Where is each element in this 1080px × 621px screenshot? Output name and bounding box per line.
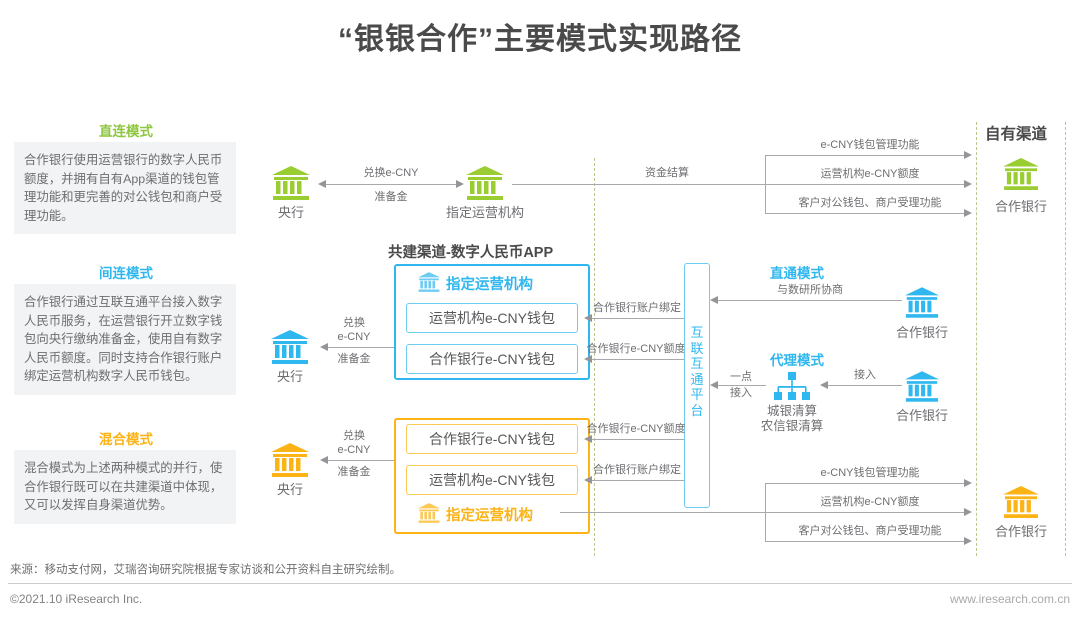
website-url: www.iresearch.com.cn <box>950 592 1070 606</box>
agent-label-access: 接入 <box>830 368 900 382</box>
fan-arrow-3-direct <box>964 209 972 217</box>
link-label-top-hybrid: 合作银行e-CNY额度 <box>584 422 688 436</box>
clearing-label-l2: 农信银清算 <box>742 415 842 434</box>
flow-arrow-exchange-hybrid <box>320 456 328 464</box>
partner-bank-label-hybrid: 合作银行 <box>981 521 1061 540</box>
channel-divider-right <box>1065 122 1066 556</box>
link-line-bottom-indirect <box>592 359 684 360</box>
partner-bank-icon-hybrid <box>1003 486 1039 518</box>
operator-bank-icon-hybrid <box>418 503 440 523</box>
agent-partner-bank-icon <box>905 371 939 402</box>
operator-bank-icon-indirect <box>418 272 440 292</box>
central-bank-label-direct: 央行 <box>261 202 321 221</box>
flow-label-exchange-l2-indirect: e-CNY <box>318 330 390 344</box>
flow-arrow-exchange-indirect <box>320 343 328 351</box>
fan-label-3-hybrid: 客户对公钱包、商户受理功能 <box>775 524 965 538</box>
mode-title-indirect: 间连模式 <box>6 262 246 282</box>
flow-label-reserve-indirect: 准备金 <box>318 352 390 366</box>
flow-label-reserve-hybrid: 准备金 <box>318 465 390 479</box>
flow-label-exchange-l2-hybrid: e-CNY <box>318 443 390 457</box>
link-line-bottom-hybrid <box>592 480 684 481</box>
operator-bank-icon-direct <box>466 166 504 200</box>
interconnect-platform-label: 互联互通平台 <box>689 325 705 418</box>
agent-arrow-access <box>820 381 828 389</box>
page-title: “银银合作”主要模式实现路径 <box>0 14 1080 58</box>
operator-label-indirect: 指定运营机构 <box>446 273 533 294</box>
fan-line-3-hybrid <box>765 541 965 542</box>
link-label-bottom-indirect: 合作银行e-CNY额度 <box>584 342 688 356</box>
mode-desc-indirect: 合作银行通过互联互通平台接入数字人民币服务，在运营银行开立数字钱包向央行缴纳准备… <box>14 284 236 395</box>
clearing-network-icon <box>772 372 812 400</box>
link-arrow-top-hybrid <box>584 435 592 443</box>
direct-partner-bank-label: 合作银行 <box>882 322 962 341</box>
footer-divider <box>8 583 1072 584</box>
central-bank-icon-hybrid <box>271 443 309 477</box>
link-label-bottom-hybrid: 合作银行账户绑定 <box>588 463 686 477</box>
central-bank-label-hybrid: 央行 <box>260 479 320 498</box>
flow-line-exchange-direct <box>326 184 456 185</box>
wallet-partner-indirect: 合作银行e-CNY钱包 <box>406 344 578 374</box>
infographic-canvas: “银银合作”主要模式实现路径 直连模式 合作银行使用运营银行的数字人民币额度，并… <box>0 0 1080 621</box>
agent-mode-tag: 代理模式 <box>770 349 824 369</box>
fan-label-1-hybrid: e-CNY钱包管理功能 <box>775 466 965 480</box>
direct-mode-arrow <box>710 296 718 304</box>
mode-title-hybrid: 混合模式 <box>6 428 246 448</box>
fan-arrow-2-direct <box>964 180 972 188</box>
wallet-partner-hybrid: 合作银行e-CNY钱包 <box>406 424 578 454</box>
link-arrow-bottom-indirect <box>584 355 592 363</box>
fan-label-2-direct: 运营机构e-CNY额度 <box>775 167 965 181</box>
wallet-operator-indirect: 运营机构e-CNY钱包 <box>406 303 578 333</box>
link-line-top-indirect <box>592 318 684 319</box>
direct-mode-label: 与数研所协商 <box>740 283 880 297</box>
link-arrow-top-indirect <box>584 314 592 322</box>
central-bank-label-indirect: 央行 <box>260 366 320 385</box>
direct-mode-line <box>718 300 902 301</box>
fan-label-2-hybrid: 运营机构e-CNY额度 <box>775 495 965 509</box>
agent-line-access <box>828 385 902 386</box>
flow-label-exchange-l1-hybrid: 兑换 <box>318 429 390 443</box>
wallet-operator-hybrid: 运营机构e-CNY钱包 <box>406 465 578 495</box>
mode-desc-direct: 合作银行使用运营银行的数字人民币额度，并拥有自有App渠道的钱包管理功能和更完善… <box>14 142 236 234</box>
fan-label-3-direct: 客户对公钱包、商户受理功能 <box>775 196 965 210</box>
fan-arrow-1-hybrid <box>964 479 972 487</box>
source-note: 来源：移动支付网，艾瑞咨询研究院根据专家访谈和公开资料自主研究绘制。 <box>10 561 401 577</box>
fan-arrow-3-hybrid <box>964 537 972 545</box>
partner-bank-icon-direct <box>1003 158 1039 190</box>
column-title-shared-channel: 共建渠道-数字人民币APP <box>388 241 553 262</box>
fan-line-1-hybrid <box>765 483 965 484</box>
fan-line-2-direct <box>765 184 965 185</box>
copyright-text: ©2021.10 iResearch Inc. <box>10 592 142 606</box>
mode-desc-hybrid: 混合模式为上述两种模式的并行，使合作银行既可以在共建渠道中体现，又可以发挥自身渠… <box>14 450 236 524</box>
fan-line-1-direct <box>765 155 965 156</box>
agent-partner-bank-label: 合作银行 <box>882 405 962 424</box>
flow-arrow-exchange-direct <box>318 180 326 188</box>
operator-label-direct: 指定运营机构 <box>428 202 542 221</box>
flow-label-settlement-direct: 资金结算 <box>645 166 689 180</box>
link-line-top-hybrid <box>592 439 684 440</box>
fan-label-1-direct: e-CNY钱包管理功能 <box>775 138 965 152</box>
central-bank-icon-direct <box>272 166 310 200</box>
direct-mode-tag: 直通模式 <box>770 262 824 282</box>
agent-label-single-l1: 一点 <box>716 370 766 384</box>
flow-arrow-reserve-direct <box>456 180 464 188</box>
flow-label-exchange-direct: 兑换e-CNY <box>326 166 456 180</box>
channel-divider-mid <box>976 122 977 556</box>
central-bank-icon-indirect <box>271 330 309 364</box>
partner-bank-label-direct: 合作银行 <box>981 196 1061 215</box>
operator-label-hybrid: 指定运营机构 <box>446 504 533 525</box>
fan-arrow-2-hybrid <box>964 508 972 516</box>
flow-line-operator-hybrid <box>560 512 765 513</box>
link-label-top-indirect: 合作银行账户绑定 <box>588 301 686 315</box>
column-title-own-channel: 自有渠道 <box>985 122 1047 144</box>
fan-arrow-1-direct <box>964 151 972 159</box>
channel-divider-left <box>594 158 595 556</box>
flow-label-exchange-l1-indirect: 兑换 <box>318 316 390 330</box>
flow-line-settlement-direct <box>512 184 765 185</box>
fan-line-2-hybrid <box>765 512 965 513</box>
mode-title-direct: 直连模式 <box>6 120 246 140</box>
fan-line-3-direct <box>765 213 965 214</box>
agent-label-single-l2: 接入 <box>716 386 766 400</box>
link-arrow-bottom-hybrid <box>584 476 592 484</box>
direct-partner-bank-icon <box>905 287 939 318</box>
